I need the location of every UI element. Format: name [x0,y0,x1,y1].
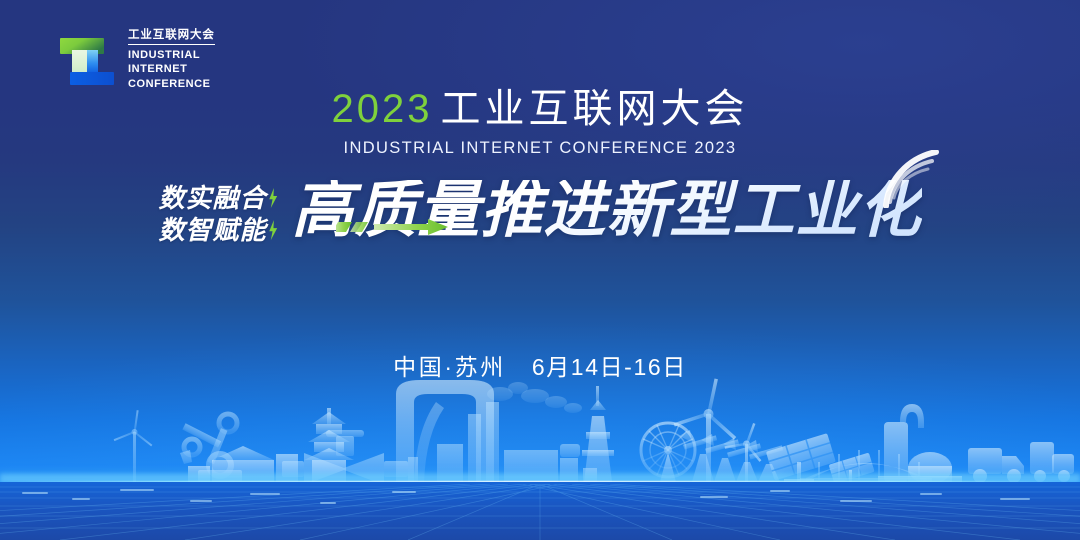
low-buildings [188,446,298,482]
slogan-inner: 数实融合 数智赋能 高质量推进新型工业化 [158,178,921,244]
slogan-small-line-2: 数智赋能 [158,216,279,244]
slogan-small-text-2: 数智赋能 [158,216,266,244]
lightning-bolt-icon [268,188,279,208]
page-title: 2023工业互联网大会 [0,88,1080,130]
solar-panel-icon [829,453,875,484]
event-meta: 中国·苏州6月14日-16日 [0,348,1080,382]
title-cn: 工业互联网大会 [440,87,748,131]
lightning-bolt-icon [268,220,279,240]
gate-of-the-orient-icon [396,380,494,482]
logo-en-line-2: INTERNET [128,62,215,77]
ferris-wheel-icon [641,423,695,482]
pagoda-icon [304,408,354,482]
title-year: 2023 [332,87,433,131]
conference-logo[interactable]: 工业互联网大会 INDUSTRIAL INTERNET CONFERENCE [56,30,215,92]
ground-plane [0,482,1080,540]
slogan-small-text-1: 数实融合 [158,184,266,212]
industrial-valve-icon [282,430,418,485]
logo-en-name: INDUSTRIAL INTERNET CONFERENCE [128,48,215,92]
slogan-small-lines: 数实融合 数智赋能 [158,178,279,244]
logo-wordmark: 工业互联网大会 INDUSTRIAL INTERNET CONFERENCE [128,30,215,91]
slogan-headline: 高质量推进新型工业化 [292,180,922,242]
ground-speckles [0,484,1080,514]
bridge-icon [800,450,932,482]
storage-tank-icon [878,404,962,484]
oil-pumpjack-icon [679,430,783,482]
tv-tower-icon [582,386,614,482]
truck-icon [1030,442,1074,482]
perspective-grid [0,484,1080,540]
ti-monogram-logo-icon [56,30,118,92]
factory-smokestack-icon [437,382,597,482]
solar-panel-icon [766,433,836,482]
city-industry-skyline [0,360,1080,540]
robotic-arm-icon [180,414,242,482]
title-subtitle-en: INDUSTRIAL INTERNET CONFERENCE 2023 [0,139,1080,158]
logo-cn-name: 工业互联网大会 [128,30,215,45]
conference-banner: 工业互联网大会 INDUSTRIAL INTERNET CONFERENCE 2… [0,0,1080,540]
slogan-small-line-1: 数实融合 [158,184,279,212]
horizon-glow-band [0,474,1080,496]
event-date: 6月14日-16日 [532,354,687,380]
truck-icon [968,448,1024,483]
title-block: 2023工业互联网大会 INDUSTRIAL INTERNET CONFEREN… [0,88,1080,158]
logo-en-line-1: INDUSTRIAL [128,48,215,63]
wind-turbine-icon [114,410,153,482]
event-location: 中国·苏州 [393,354,506,380]
wind-turbine-icon [725,423,762,482]
horizon-line [0,481,1080,484]
slogan-block: 数实融合 数智赋能 高质量推进新型工业化 [0,178,1080,244]
smoke-icon [487,382,582,413]
wind-turbine-icon [674,378,737,482]
